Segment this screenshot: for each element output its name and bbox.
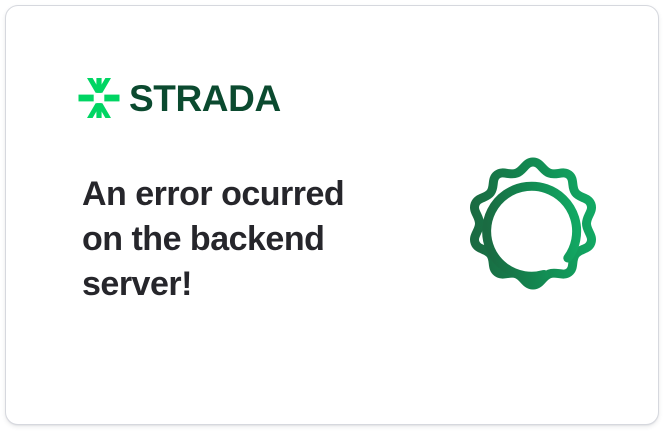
brand-wordmark: STRADA [129, 80, 281, 117]
error-card: STRADA An error ocurred on the backend s… [5, 5, 659, 425]
strada-asterisk-icon [78, 77, 120, 119]
gear-cog-icon [450, 140, 616, 308]
brand-lockup: STRADA [78, 72, 281, 124]
error-heading: An error ocurred on the backend server! [82, 172, 382, 308]
screen-root: STRADA An error ocurred on the backend s… [0, 0, 666, 436]
